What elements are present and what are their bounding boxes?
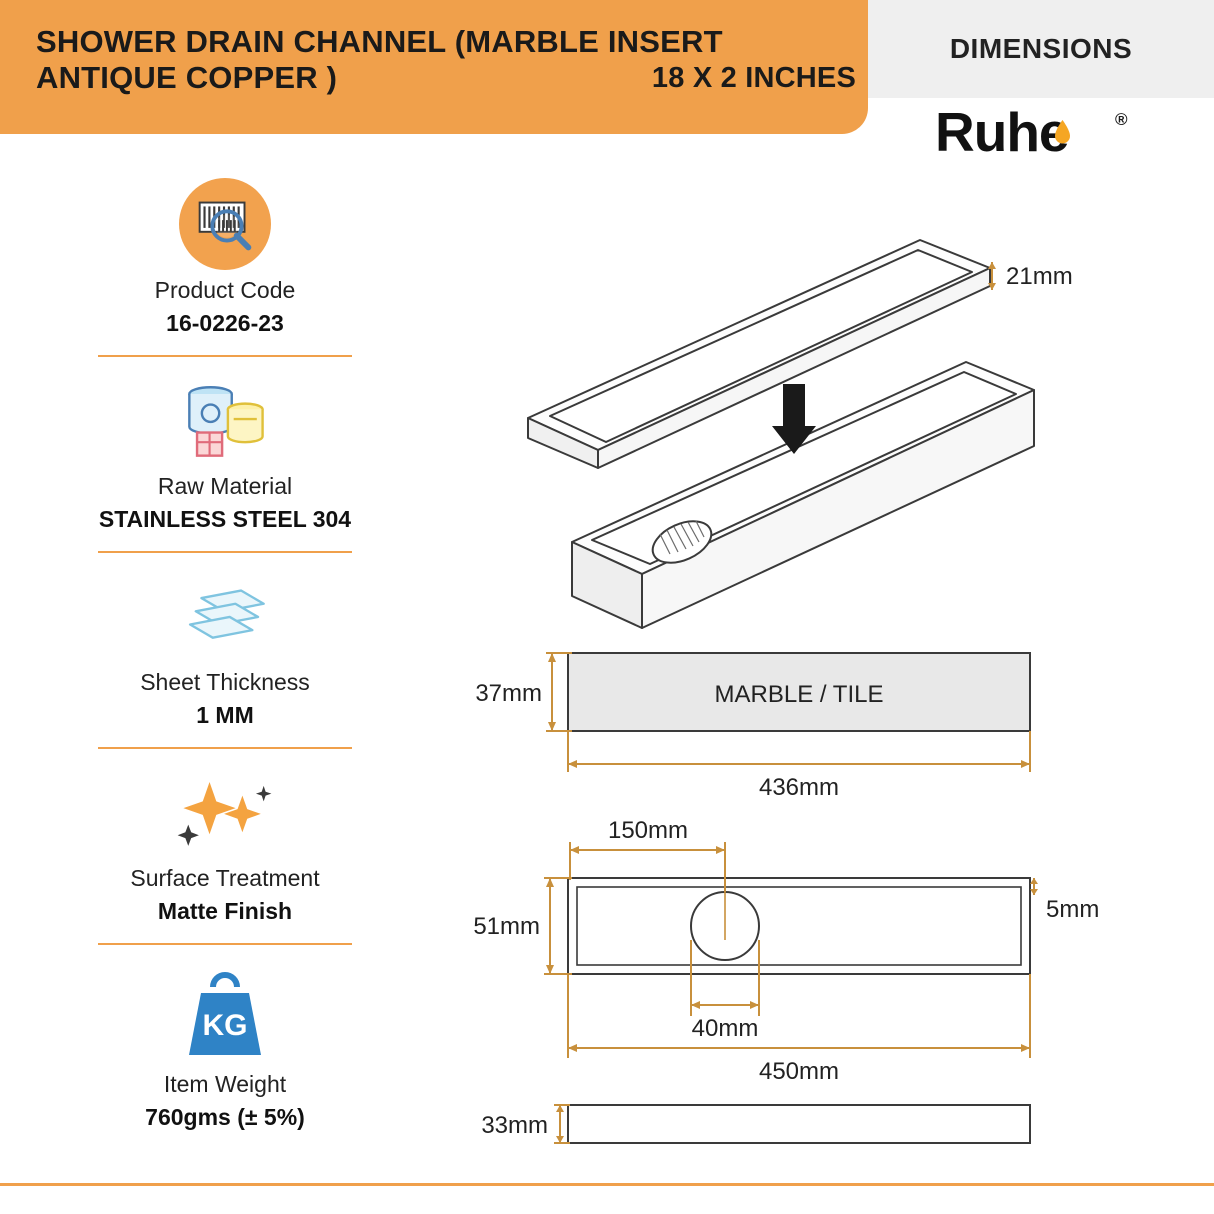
header: SHOWER DRAIN CHANNEL (MARBLE INSERT ANTI… [0,0,1214,134]
divider [98,943,352,945]
total-length-label: 450mm [759,1058,839,1085]
paint-cans-icon [172,376,278,464]
body-height-label: 51mm [473,913,540,940]
side-height-label: 33mm [481,1112,548,1139]
sheets-icon [173,583,277,649]
title-line-2: ANTIQUE COPPER ) [36,60,337,95]
technical-drawings: 21mm MARBLE / TILE 37mm 436mm [420,150,1214,1160]
specifications-list: Product Code 16-0226-23 Raw Material STA… [60,175,390,1131]
spec-surface-treatment: Surface Treatment Matte Finish [60,763,390,925]
iso-height-dimension: 21mm [988,262,1073,290]
marble-height-label: 37mm [475,680,542,707]
footer-divider [0,1183,1214,1186]
spec-label: Item Weight [60,1071,390,1098]
spec-label: Sheet Thickness [60,669,390,696]
water-drop-icon [1054,120,1071,144]
spec-icon-wrap [60,371,390,469]
marble-height-dimension: 37mm [475,653,572,731]
spec-value: STAINLESS STEEL 304 [60,506,390,533]
side-view [568,1105,1030,1143]
product-size: 18 X 2 INCHES [652,60,856,96]
marble-width-dimension: 436mm [568,731,1030,801]
iso-height-label: 21mm [1006,263,1073,290]
divider [98,551,352,553]
page-title: SHOWER DRAIN CHANNEL (MARBLE INSERT ANTI… [36,24,856,96]
body-height-dimension: 51mm [473,878,572,974]
hole-diameter-label: 40mm [692,1015,759,1042]
spec-raw-material: Raw Material STAINLESS STEEL 304 [60,371,390,533]
barcode-magnifier-icon [179,178,271,270]
title-line-1: SHOWER DRAIN CHANNEL (MARBLE INSERT [36,24,856,60]
dimensions-title: DIMENSIONS [868,0,1214,98]
spec-icon-wrap [60,567,390,665]
marble-label: MARBLE / TILE [715,681,884,708]
spec-value: 16-0226-23 [60,310,390,337]
hole-offset-label: 150mm [608,817,688,844]
registered-mark: ® [1115,110,1128,130]
spec-icon-wrap [60,763,390,861]
divider [98,747,352,749]
divider [98,355,352,357]
weight-bag-icon: KG [175,963,275,1063]
marble-width-label: 436mm [759,774,839,801]
edge-label: 5mm [1046,896,1099,923]
spec-icon-wrap: KG [60,959,390,1067]
marble-tile-view: MARBLE / TILE [568,653,1030,731]
edge-dimension: 5mm [1030,878,1099,923]
spec-label: Surface Treatment [60,865,390,892]
spec-label: Product Code [60,277,390,304]
side-height-dimension: 33mm [481,1105,570,1143]
total-length-dimension: 450mm [568,974,1030,1085]
spec-value: 1 MM [60,702,390,729]
spec-value: 760gms (± 5%) [60,1104,390,1131]
spec-value: Matte Finish [60,898,390,925]
spec-sheet-thickness: Sheet Thickness 1 MM [60,567,390,729]
spec-label: Raw Material [60,473,390,500]
drawing-canvas: 21mm MARBLE / TILE 37mm 436mm [420,150,1214,1160]
sparkle-icon [167,778,283,846]
top-view [568,878,1030,974]
spec-item-weight: KG Item Weight 760gms (± 5%) [60,959,390,1131]
weight-unit-text: KG [203,1009,248,1042]
spec-product-code: Product Code 16-0226-23 [60,175,390,337]
spec-icon-wrap [60,175,390,273]
